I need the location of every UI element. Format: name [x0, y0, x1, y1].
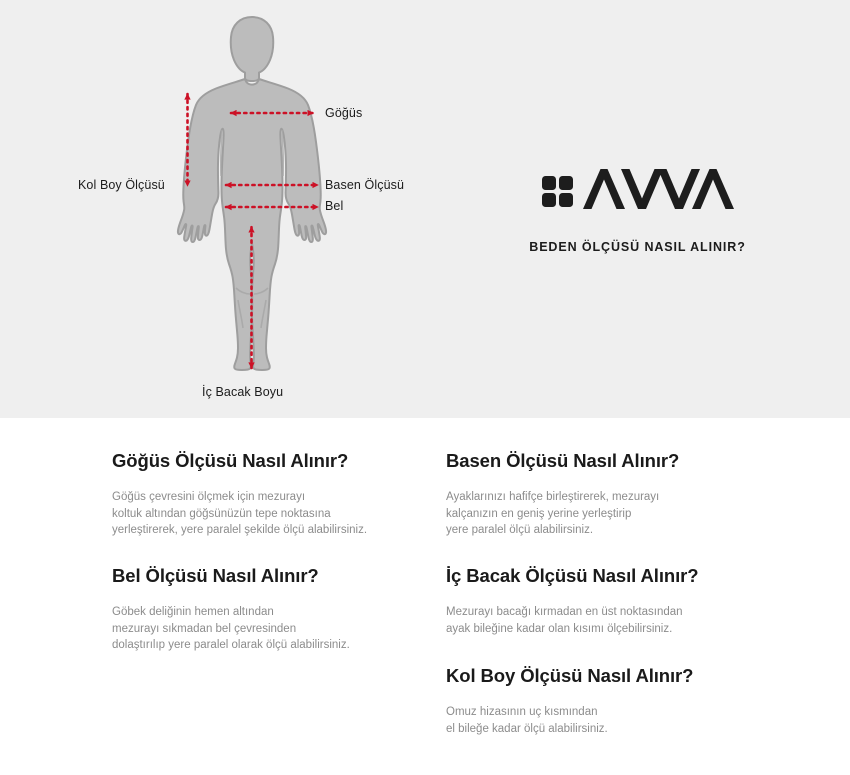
label-hip: Basen Ölçüsü [325, 178, 404, 192]
label-inseam: İç Bacak Boyu [202, 385, 283, 399]
logo-square-tl [542, 176, 556, 190]
avva-wordmark-svg [582, 167, 734, 211]
faq-answer: Göğüs çevresini ölçmek için mezurayı kol… [112, 489, 422, 539]
size-guide-page: Göğüs Basen Ölçüsü Bel Kol Boy Ölçüsü İç… [0, 0, 850, 775]
faq-question: Basen Ölçüsü Nasıl Alınır? [446, 450, 776, 472]
faq-question: Kol Boy Ölçüsü Nasıl Alınır? [446, 665, 776, 687]
avva-wordmark [582, 167, 734, 215]
avva-four-square-mark [542, 176, 573, 207]
human-figure [178, 17, 326, 370]
faq-question: İç Bacak Ölçüsü Nasıl Alınır? [446, 565, 776, 587]
faq-item-chest: Göğüs Ölçüsü Nasıl Alınır? Göğüs çevresi… [112, 450, 422, 539]
logo-square-br [559, 193, 573, 207]
label-sleeve: Kol Boy Ölçüsü [78, 178, 165, 192]
label-chest: Göğüs [325, 106, 362, 120]
faq-answer: Omuz hizasının uç kısmından el bileğe ka… [446, 704, 776, 737]
faq-question: Göğüs Ölçüsü Nasıl Alınır? [112, 450, 422, 472]
faq-question: Bel Ölçüsü Nasıl Alınır? [112, 565, 422, 587]
measurement-diagram: Göğüs Basen Ölçüsü Bel Kol Boy Ölçüsü İç… [0, 0, 425, 418]
faq-panel: Göğüs Ölçüsü Nasıl Alınır? Göğüs çevresi… [0, 418, 850, 775]
label-waist: Bel [325, 199, 343, 213]
faq-item-waist: Bel Ölçüsü Nasıl Alınır? Göbek deliğinin… [112, 565, 422, 654]
top-illustration-panel: Göğüs Basen Ölçüsü Bel Kol Boy Ölçüsü İç… [0, 0, 850, 418]
faq-item-inseam: İç Bacak Ölçüsü Nasıl Alınır? Mezurayı b… [446, 565, 776, 637]
faq-item-sleeve: Kol Boy Ölçüsü Nasıl Alınır? Omuz hizası… [446, 665, 776, 737]
faq-answer: Ayaklarınızı hafifçe birleştirerek, mezu… [446, 489, 776, 539]
faq-answer: Mezurayı bacağı kırmadan en üst noktasın… [446, 604, 776, 637]
logo-square-tr [559, 176, 573, 190]
faq-answer: Göbek deliğinin hemen altından mezurayı … [112, 604, 422, 654]
brand-subtitle: BEDEN ÖLÇÜSÜ NASIL ALINIR? [425, 240, 850, 254]
body-silhouette-svg [0, 0, 425, 418]
brand-block: BEDEN ÖLÇÜSÜ NASIL ALINIR? [425, 0, 850, 418]
faq-item-hip: Basen Ölçüsü Nasıl Alınır? Ayaklarınızı … [446, 450, 776, 539]
logo-square-bl [542, 193, 556, 207]
avva-logo [542, 168, 734, 214]
